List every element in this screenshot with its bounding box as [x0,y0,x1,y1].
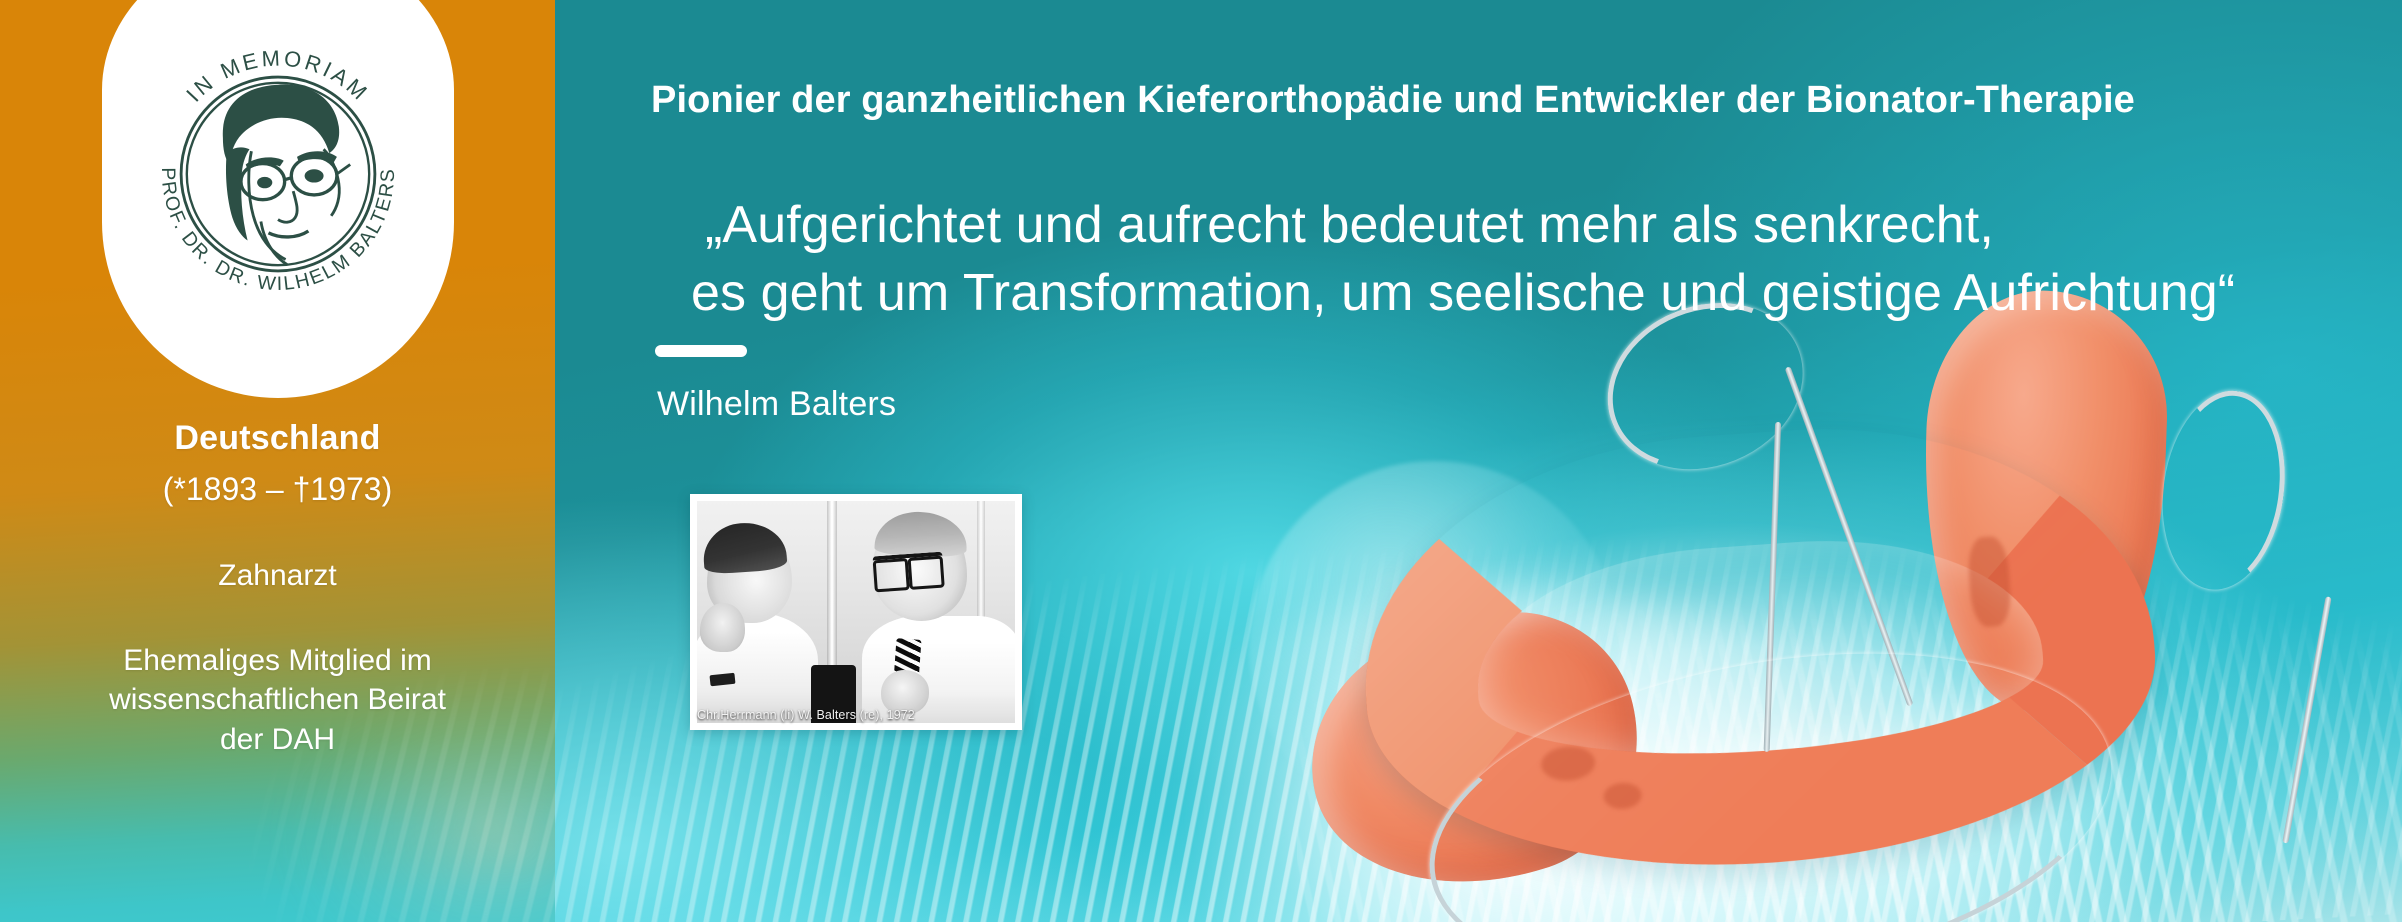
balters-seal-logo: IN MEMORIAM PROF. DR. DR. WILHELM BALTER… [136,32,421,317]
quote-attribution: Wilhelm Balters [657,385,896,424]
photo-person-right-glasses [873,552,944,576]
page-headline: Pionier der ganzheitlichen Kieferorthopä… [651,77,2351,125]
sidebar-info-block: Deutschland (*1893 – †1973) Zahnarzt Ehe… [0,418,555,760]
country-label: Deutschland [0,418,555,459]
main-content: Pionier der ganzheitlichen Kieferorthopä… [555,0,2402,922]
memorial-banner: IN MEMORIAM PROF. DR. DR. WILHELM BALTER… [0,0,2402,922]
quote-line-2: es geht um Transformation, um seelische … [691,260,2402,328]
historic-photo [697,501,1015,723]
life-dates: (*1893 – †1973) [0,469,555,509]
quote-block: „Aufgerichtet und aufrecht bedeutet mehr… [691,192,2402,327]
photo-caption: Chr.Herrmann (li) W. Balters (re), 1972 [690,706,1022,724]
accent-divider [655,345,747,357]
membership-note: Ehemaliges Mitglied im wissenschaftliche… [0,641,555,760]
seal-bottom-text: PROF. DR. DR. WILHELM BALTERS [157,167,399,295]
photo-person-right-hair [874,510,968,558]
photo-person-left-hands [700,603,745,652]
quote-line-1: „Aufgerichtet und aufrecht bedeutet mehr… [691,192,2402,260]
memorial-badge: IN MEMORIAM PROF. DR. DR. WILHELM BALTER… [102,0,454,398]
photo-person-left-hair [702,520,788,574]
sidebar: IN MEMORIAM PROF. DR. DR. WILHELM BALTER… [0,0,555,922]
profession-label: Zahnarzt [0,559,555,593]
historic-photo-frame: Chr.Herrmann (li) W. Balters (re), 1972 [690,494,1022,730]
